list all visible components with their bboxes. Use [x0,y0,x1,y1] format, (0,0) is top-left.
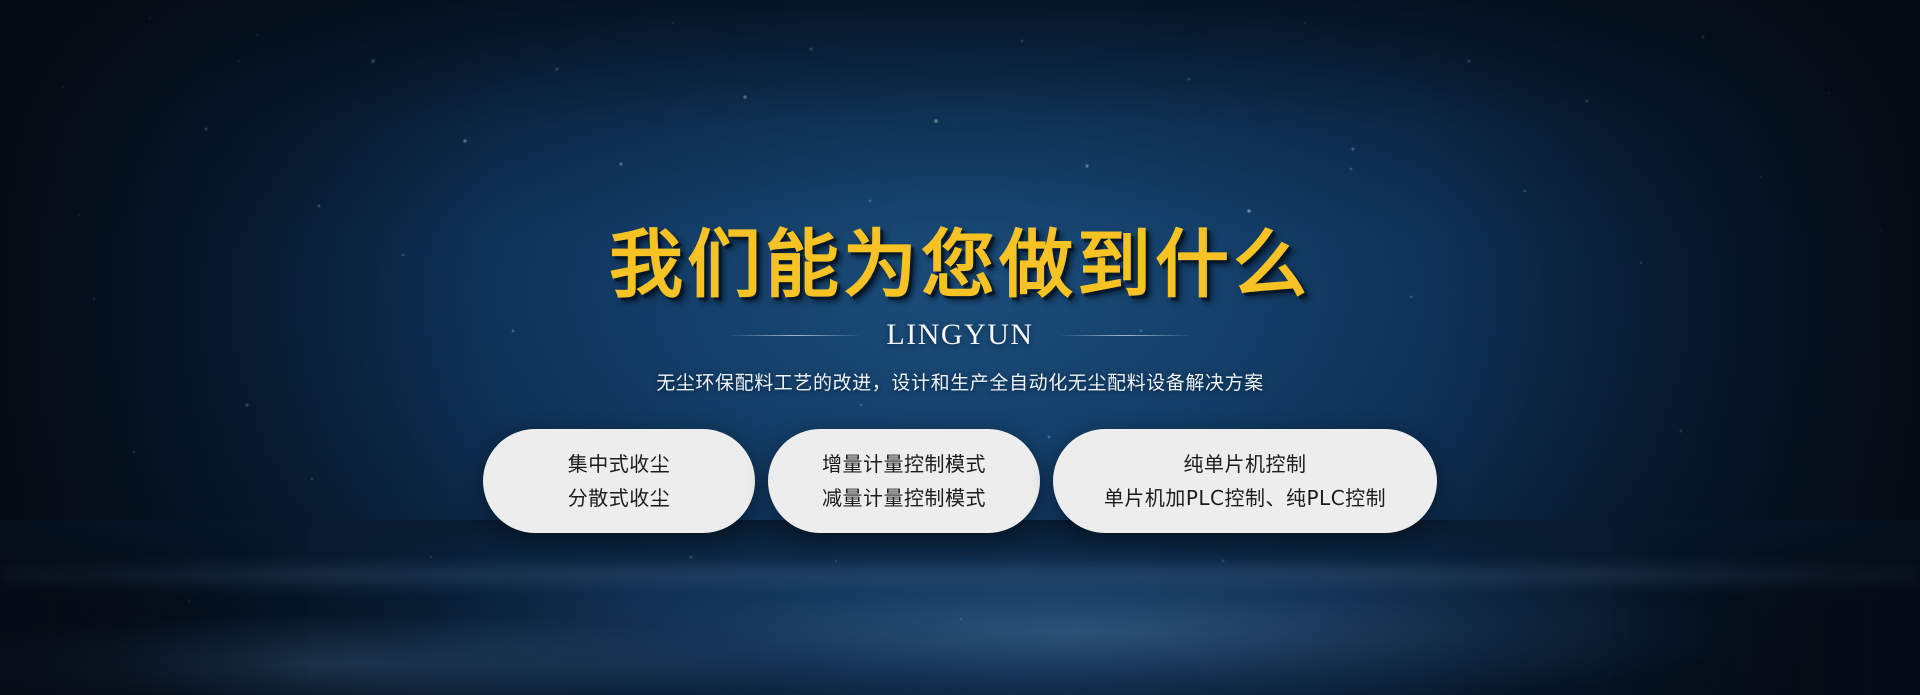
feature-card-row: 集中式收尘 分散式收尘 增量计量控制模式 减量计量控制模式 纯单片机控制 单片机… [483,429,1437,533]
feature-card-dust-collection[interactable]: 集中式收尘 分散式收尘 [483,429,755,533]
feature-card-metering-control-mode[interactable]: 增量计量控制模式 减量计量控制模式 [768,429,1040,533]
divider-line-right [1062,335,1188,336]
hero-banner: 我们能为您做到什么 LINGYUN 无尘环保配料工艺的改进，设计和生产全自动化无… [0,0,1920,695]
card-line: 集中式收尘 [568,454,671,474]
banner-content: 我们能为您做到什么 LINGYUN 无尘环保配料工艺的改进，设计和生产全自动化无… [0,0,1920,695]
card-line: 分散式收尘 [568,488,671,508]
brand-subtitle: LINGYUN [886,320,1033,350]
divider-line-left [732,335,858,336]
page-title: 我们能为您做到什么 [609,228,1311,302]
card-line: 单片机加PLC控制、纯PLC控制 [1104,488,1386,508]
page-description: 无尘环保配料工艺的改进，设计和生产全自动化无尘配料设备解决方案 [656,374,1264,393]
feature-card-controller-type[interactable]: 纯单片机控制 单片机加PLC控制、纯PLC控制 [1053,429,1437,533]
card-line: 纯单片机控制 [1184,454,1307,474]
subtitle-row: LINGYUN [732,320,1187,350]
card-line: 减量计量控制模式 [822,488,986,508]
card-line: 增量计量控制模式 [822,454,986,474]
